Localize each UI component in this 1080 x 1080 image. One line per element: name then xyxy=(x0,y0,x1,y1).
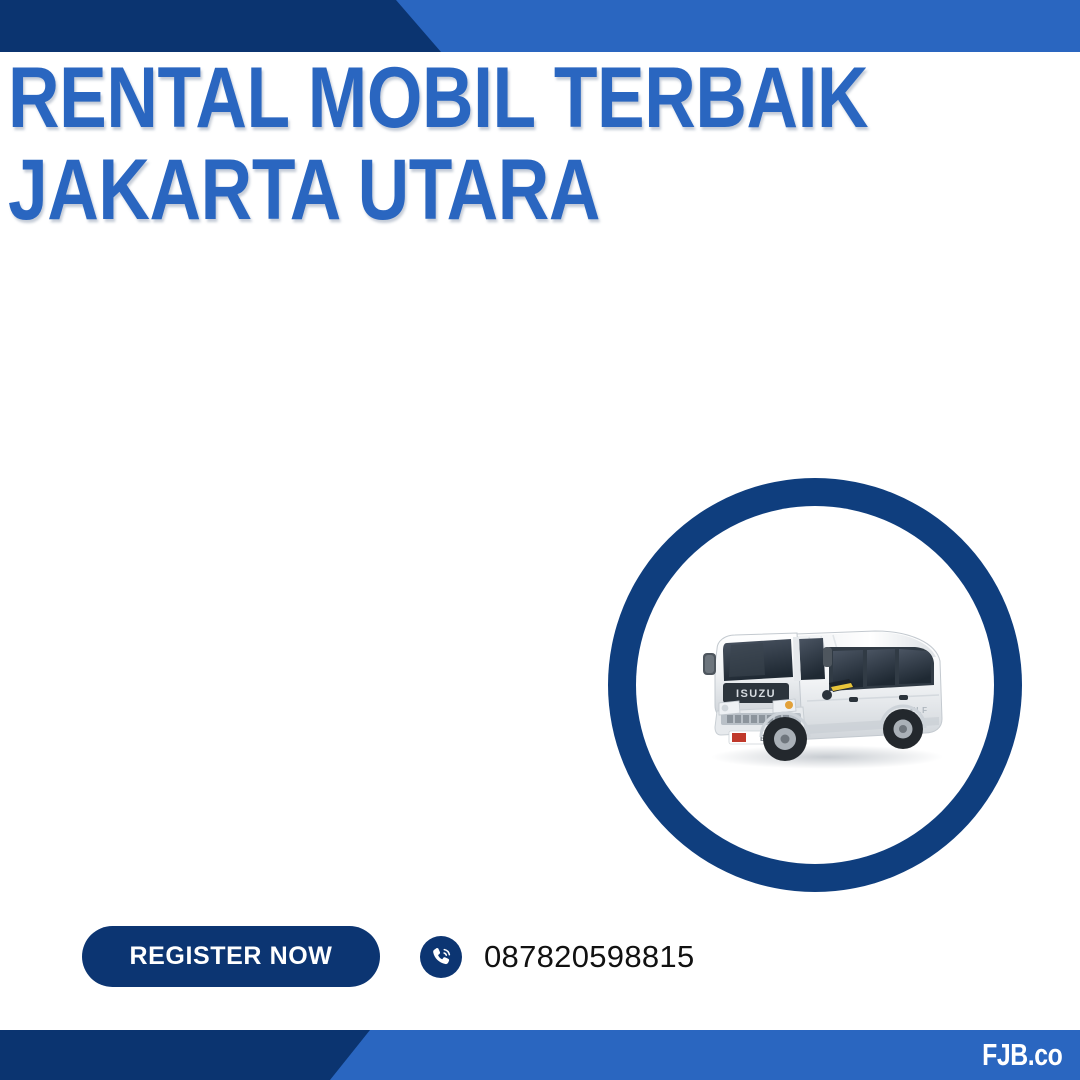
phone-contact[interactable]: 087820598815 xyxy=(420,936,695,978)
register-now-button[interactable]: REGISTER NOW xyxy=(82,926,380,987)
phone-handset-glyph xyxy=(428,944,454,970)
bottom-banner-dark-shape xyxy=(0,1030,380,1080)
cta-row: REGISTER NOW 087820598815 xyxy=(82,926,695,987)
svg-text:ISUZU: ISUZU xyxy=(736,688,776,700)
phone-number-text: 087820598815 xyxy=(484,939,695,975)
photo-ring: ISUZU xyxy=(608,478,1022,892)
phone-call-icon[interactable] xyxy=(420,936,462,978)
headline-line-1: RENTAL MOBIL TERBAIK xyxy=(8,52,755,144)
isuzu-elf-minibus-icon: ISUZU xyxy=(677,591,953,779)
headline-line-2: JAKARTA UTARA xyxy=(8,144,755,236)
promo-poster: RENTAL MOBIL TERBAIK JAKARTA UTARA xyxy=(0,0,1080,1080)
minibus-illustration: ISUZU xyxy=(677,591,953,779)
vehicle-photo: ISUZU xyxy=(636,506,994,864)
top-banner xyxy=(0,0,1080,52)
bottom-banner: FJB.co xyxy=(0,1030,1080,1080)
brand-logo[interactable]: FJB.co xyxy=(982,1030,1062,1080)
page-title: RENTAL MOBIL TERBAIK JAKARTA UTARA xyxy=(8,52,908,236)
top-banner-dark-shape xyxy=(0,0,445,52)
